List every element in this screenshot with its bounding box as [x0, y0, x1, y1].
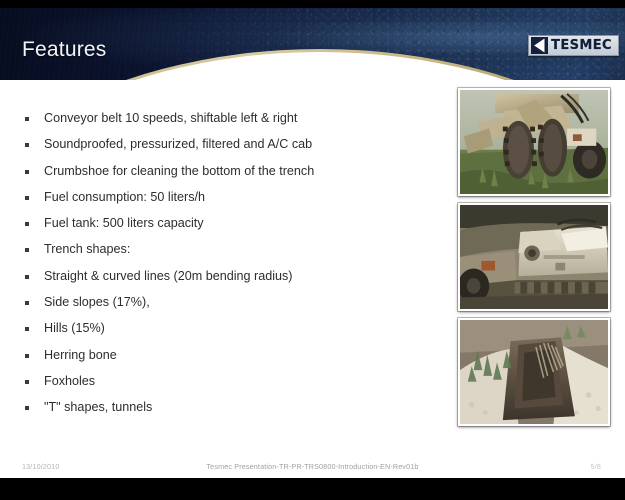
- slide-footer: 13/10/2010 Tesmec Presentation-TR-PR-TRS…: [0, 454, 625, 478]
- list-item: Hills (15%): [22, 320, 442, 346]
- list-item-label: Conveyor belt 10 speeds, shiftable left …: [44, 110, 297, 127]
- photo-column: [458, 88, 610, 433]
- list-item-label: Fuel tank: 500 liters capacity: [44, 215, 204, 232]
- list-item-label: Soundproofed, pressurized, filtered and …: [44, 136, 312, 153]
- bullet-square-icon: [25, 222, 29, 226]
- list-item-label: Trench shapes:: [44, 241, 130, 258]
- trencher-digging-wheel-photo: [458, 88, 610, 196]
- list-item: Foxholes: [22, 373, 442, 399]
- dug-trench-foxhole-photo: [458, 318, 610, 426]
- slide-canvas: Features TESMEC Conveyor belt 10 speeds,…: [0, 8, 625, 478]
- list-item: Side slopes (17%),: [22, 294, 442, 320]
- list-item: Straight & curved lines (20m bending rad…: [22, 268, 442, 294]
- brand-name: TESMEC: [550, 39, 615, 53]
- list-item-label: Crumbshoe for cleaning the bottom of the…: [44, 163, 314, 180]
- bullet-square-icon: [25, 275, 29, 279]
- list-item: Crumbshoe for cleaning the bottom of the…: [22, 163, 442, 189]
- list-item-label: Hills (15%): [44, 320, 105, 337]
- list-item-label: Side slopes (17%),: [44, 294, 150, 311]
- bullet-square-icon: [25, 406, 29, 410]
- tesmec-logo: TESMEC: [528, 35, 619, 56]
- list-item-label: Fuel consumption: 50 liters/h: [44, 189, 205, 206]
- footer-document-name: Tesmec Presentation-TR-PR-TRS0800-Introd…: [0, 462, 625, 471]
- bullet-square-icon: [25, 327, 29, 331]
- list-item: Conveyor belt 10 speeds, shiftable left …: [22, 110, 442, 136]
- list-item: Fuel tank: 500 liters capacity: [22, 215, 442, 241]
- bullet-square-icon: [25, 196, 29, 200]
- letterbox-bottom: [0, 478, 625, 500]
- list-item: "T" shapes, tunnels: [22, 399, 442, 425]
- chevron-left-icon: [531, 37, 548, 54]
- list-item-label: Foxholes: [44, 373, 95, 390]
- bullet-square-icon: [25, 117, 29, 121]
- list-item-label: "T" shapes, tunnels: [44, 399, 152, 416]
- list-item: Trench shapes:: [22, 241, 442, 267]
- bullet-square-icon: [25, 248, 29, 252]
- list-item: Fuel consumption: 50 liters/h: [22, 189, 442, 215]
- bullet-square-icon: [25, 354, 29, 358]
- bullet-square-icon: [25, 301, 29, 305]
- bullet-square-icon: [25, 170, 29, 174]
- page-title: Features: [22, 38, 106, 62]
- bullet-square-icon: [25, 143, 29, 147]
- slide-root: Features TESMEC Conveyor belt 10 speeds,…: [0, 0, 625, 500]
- list-item-label: Straight & curved lines (20m bending rad…: [44, 268, 293, 285]
- list-item-label: Herring bone: [44, 347, 117, 364]
- letterbox-top: [0, 0, 625, 8]
- bullet-square-icon: [25, 380, 29, 384]
- list-item: Herring bone: [22, 347, 442, 373]
- features-bullet-list: Conveyor belt 10 speeds, shiftable left …: [22, 110, 442, 426]
- list-item: Soundproofed, pressurized, filtered and …: [22, 136, 442, 162]
- trencher-machine-side-photo: [458, 203, 610, 311]
- footer-page-number: 5/8: [591, 462, 601, 471]
